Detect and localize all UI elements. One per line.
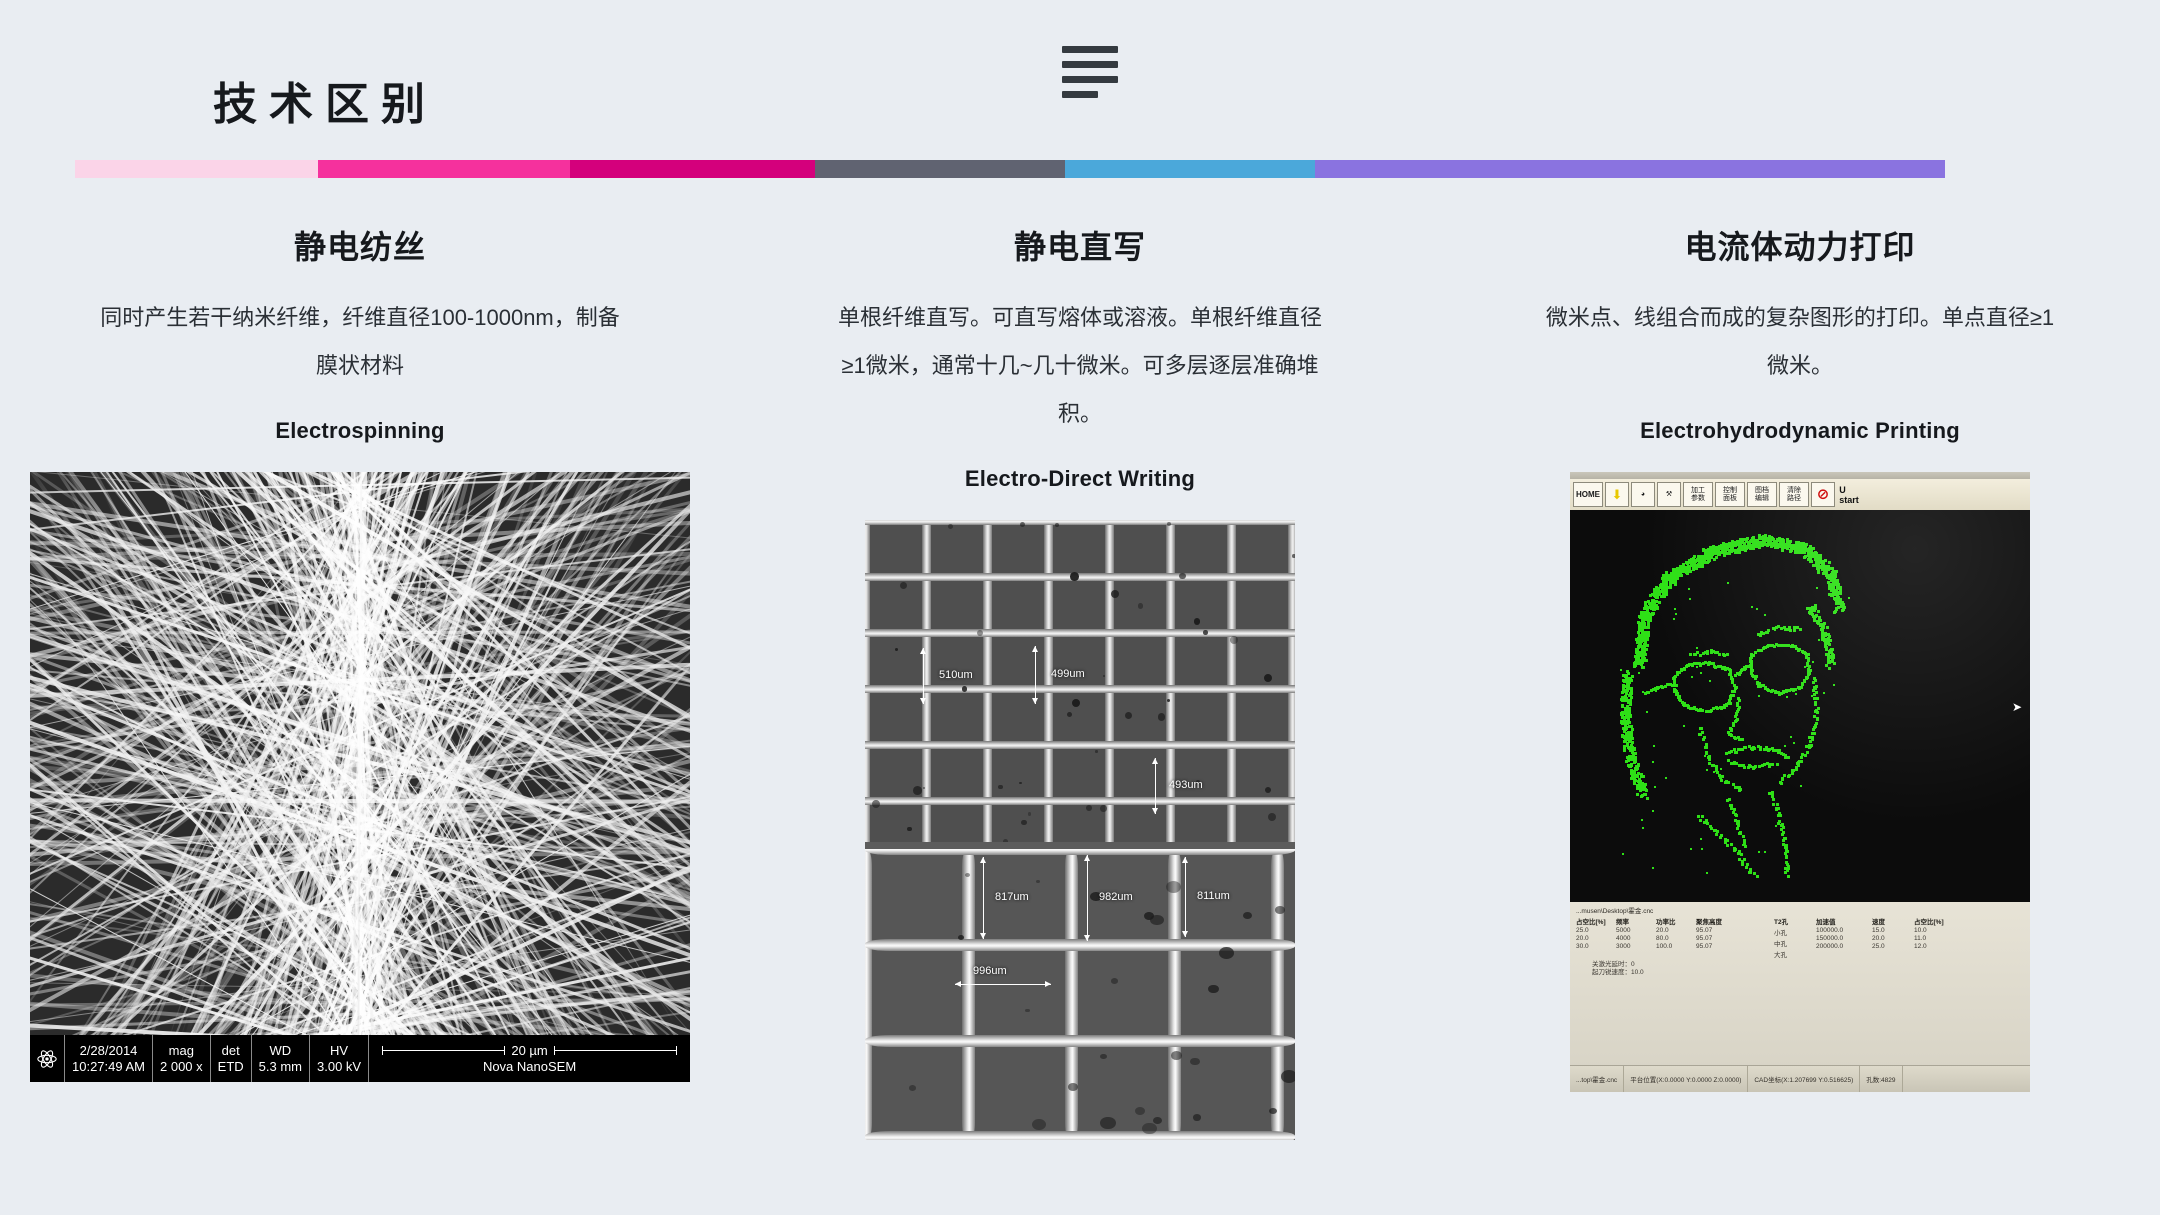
printed-dot <box>1782 542 1785 545</box>
printed-dot <box>1646 607 1649 610</box>
surface-defect <box>1100 1054 1107 1059</box>
surface-defect <box>1003 839 1008 842</box>
surface-defect <box>909 1085 916 1091</box>
printed-dot <box>1763 535 1766 538</box>
printed-dot <box>1716 830 1719 833</box>
surface-defect <box>1171 1051 1182 1060</box>
surface-defect <box>1265 787 1271 793</box>
printed-dot <box>1734 541 1737 544</box>
column-english-label: Electro-Direct Writing <box>965 466 1195 492</box>
printed-dot <box>1625 691 1628 694</box>
measurement-arrow <box>1155 758 1156 814</box>
printed-dot <box>1630 687 1633 690</box>
measurement-label: 811um <box>1197 890 1230 902</box>
printed-dot <box>1642 788 1644 790</box>
printed-dot <box>1795 768 1798 771</box>
sem-grid-image: 510um499um493um 817um982um811um996um <box>865 520 1295 1140</box>
printed-dot <box>1638 672 1640 674</box>
column-title: 静电直写 <box>1014 222 1146 268</box>
printed-dot <box>1719 706 1722 709</box>
printed-dot <box>1727 582 1729 584</box>
surface-defect <box>1125 712 1132 719</box>
color-bar <box>75 160 1945 178</box>
printed-dot <box>1675 613 1677 615</box>
surface-defect <box>1219 947 1234 959</box>
measurement-label: 996um <box>973 965 1007 977</box>
param-right-1-column: 加速值100000.0150000.0200000.0 <box>1816 916 1872 959</box>
printed-dot <box>1699 555 1702 558</box>
printed-dot <box>1751 606 1753 608</box>
printed-dot <box>1643 643 1646 646</box>
param-left-2-cell: 20.0 <box>1656 927 1696 934</box>
toolbar-origin-icon[interactable]: ⬇ <box>1605 482 1629 507</box>
databar-wd-label: WD <box>269 1043 291 1059</box>
printed-dot <box>1764 614 1766 616</box>
printed-dot <box>1726 844 1729 847</box>
measurement-label: 499um <box>1051 668 1085 680</box>
printed-dot <box>1706 551 1709 554</box>
printed-dot <box>1808 744 1810 746</box>
printed-dot <box>1643 793 1646 796</box>
surface-defect <box>1086 805 1092 811</box>
printed-dot <box>1713 771 1715 773</box>
printed-dot <box>1642 666 1645 669</box>
scalebar-right-line <box>554 1050 677 1051</box>
printed-dot <box>1795 693 1797 695</box>
grid-fiber-vertical <box>1227 520 1236 842</box>
printed-dot <box>1692 707 1695 710</box>
printed-dot <box>1835 599 1838 602</box>
toolbar-nozzle-icon[interactable]: ◕ <box>1631 482 1655 507</box>
ehd-printed-portrait <box>1578 514 1908 896</box>
printed-dot <box>1773 750 1775 752</box>
printed-dot <box>1620 669 1622 671</box>
printed-dot <box>1787 756 1790 759</box>
printed-dot <box>1820 628 1823 631</box>
column-ehd-printing: 电流体动力打印 微米点、线组合而成的复杂图形的打印。单点直径≥1微米。 Elec… <box>1440 200 2160 1210</box>
printed-dot <box>1701 815 1704 818</box>
printed-dot <box>1629 694 1632 697</box>
databar-mag: mag 2 000 x <box>153 1035 211 1082</box>
printed-dot <box>1837 606 1840 609</box>
param-right-1-cell: 100000.0 <box>1816 927 1872 934</box>
menu-line-1 <box>1062 46 1118 53</box>
measurement-label: 817um <box>995 891 1029 903</box>
grid-upper-panel: 510um499um493um <box>865 520 1295 842</box>
printed-dot <box>1723 704 1726 707</box>
printed-dot <box>1686 572 1689 575</box>
printed-dot <box>1754 651 1757 654</box>
printed-dot <box>1773 544 1776 547</box>
surface-defect <box>1055 523 1059 527</box>
printed-dot <box>1686 561 1689 564</box>
surface-defect <box>1028 812 1032 816</box>
printed-dot <box>1748 541 1751 544</box>
table-spacer <box>1748 916 1774 959</box>
printed-dot <box>1798 687 1801 690</box>
printed-dot <box>1756 608 1758 610</box>
column-electrospinning: 静电纺丝 同时产生若干纳米纤维，纤维直径100-1000nm，制备膜状材料 El… <box>0 200 720 1210</box>
surface-defect <box>1067 712 1072 717</box>
printed-dot <box>1730 807 1733 810</box>
printed-dot <box>1638 634 1641 637</box>
measurement-label: 982um <box>1099 891 1133 903</box>
param-left-0-cell: 30.0 <box>1576 943 1616 950</box>
surface-defect <box>1068 1083 1078 1091</box>
screen-bezel <box>1570 472 2030 479</box>
printed-dot <box>1655 604 1658 607</box>
printed-dot <box>1632 754 1635 757</box>
measurement-arrow <box>1087 855 1088 941</box>
printed-dot <box>1623 749 1626 752</box>
printed-dot <box>1786 696 1788 698</box>
cnc-canvas: ➤ <box>1570 510 2030 902</box>
printed-dot <box>1654 786 1656 788</box>
printed-dot <box>1653 608 1656 611</box>
scalebar-value: 20 µm <box>511 1043 547 1058</box>
printed-dot <box>1832 591 1835 594</box>
printed-dot <box>1690 558 1693 561</box>
printed-dot <box>1811 695 1813 697</box>
surface-defect <box>1100 1117 1116 1130</box>
surface-defect <box>1100 805 1106 811</box>
printed-dot <box>1646 635 1649 638</box>
printed-dot <box>1835 583 1838 586</box>
printed-dot <box>1621 735 1624 738</box>
printed-dot <box>1654 588 1657 591</box>
param-right-3-cell: 10.0 <box>1914 927 1956 934</box>
printed-dot <box>1706 769 1708 771</box>
printed-dot <box>1767 542 1770 545</box>
printed-dot <box>1727 781 1730 784</box>
printed-dot <box>1689 598 1691 600</box>
databar-det-value: ETD <box>218 1059 244 1075</box>
printed-dot <box>1816 621 1819 624</box>
printed-dot <box>1799 542 1802 545</box>
color-segment-deep-pink <box>570 160 815 178</box>
measurement-arrow <box>1035 646 1036 704</box>
printed-dot <box>1744 746 1747 749</box>
printed-dot <box>1739 788 1742 791</box>
param-right-1-header: 加速值 <box>1816 916 1872 926</box>
cnc-file-path: ...musen\Desktop\霍金.cnc <box>1570 902 2030 916</box>
printed-dot <box>1800 785 1802 787</box>
printed-dot <box>1828 667 1831 670</box>
databar-hv: HV 3.00 kV <box>310 1035 369 1082</box>
printed-dot <box>1635 765 1638 768</box>
printed-dot <box>1784 745 1786 747</box>
printed-dot <box>1661 589 1664 592</box>
surface-defect <box>1268 813 1276 821</box>
printed-dot <box>1706 652 1709 655</box>
printed-dot <box>1726 653 1729 656</box>
printed-dot <box>1690 848 1692 850</box>
page-title: 技术区别 <box>213 68 437 132</box>
printed-dot <box>1635 648 1638 651</box>
printed-dot <box>1777 807 1780 810</box>
param-right-2-column: 速度15.020.025.0 <box>1872 916 1914 959</box>
surface-defect <box>1243 912 1252 919</box>
printed-dot <box>1652 602 1655 605</box>
printed-dot <box>1809 740 1812 743</box>
printed-dot <box>1777 814 1780 817</box>
surface-defect <box>913 786 922 795</box>
printed-dot <box>1672 677 1675 680</box>
printed-dot <box>1675 574 1678 577</box>
column-title: 电流体动力打印 <box>1684 222 1915 268</box>
printed-dot <box>1743 543 1746 546</box>
printed-dot <box>1767 629 1770 632</box>
cnc-parameter-panel: ...musen\Desktop\霍金.cnc 占空比[%]25.020.030… <box>1570 902 2030 1092</box>
databar-instrument: Nova NanoSEM <box>483 1059 576 1074</box>
printed-dot <box>1745 538 1748 541</box>
printed-dot <box>1736 827 1739 830</box>
printed-dot <box>1848 597 1850 599</box>
param-left-1-cell: 5000 <box>1616 927 1656 934</box>
printed-dot <box>1743 766 1746 769</box>
printed-dot <box>1837 596 1840 599</box>
printed-dot <box>1684 568 1687 571</box>
printed-dot <box>1629 765 1632 768</box>
printed-dot <box>1812 661 1814 663</box>
printed-dot <box>1644 788 1647 791</box>
toolbar-stop-icon[interactable]: ⊘ <box>1811 482 1835 507</box>
printed-dot <box>1785 689 1788 692</box>
printed-dot <box>1682 563 1685 566</box>
param-right-1-cell: 150000.0 <box>1816 935 1872 942</box>
printed-dot <box>1708 758 1711 761</box>
printed-dot <box>1621 705 1624 708</box>
param-left-3-header: 聚焦高度 <box>1696 916 1748 926</box>
printed-dot <box>1781 549 1784 552</box>
printed-dot <box>1664 685 1667 688</box>
toolbar-button-4[interactable]: 加工参数 <box>1683 482 1713 507</box>
surface-defect <box>1020 522 1025 527</box>
printed-dot <box>1797 551 1800 554</box>
printed-dot <box>1791 772 1794 775</box>
printed-dot <box>1774 629 1776 631</box>
printed-dot <box>1814 604 1817 607</box>
sem-nanofiber-image: 2/28/2014 10:27:49 AM mag 2 000 x det ET… <box>30 472 690 1082</box>
printed-dot <box>1739 671 1742 674</box>
printed-dot <box>1729 549 1732 552</box>
surface-defect <box>1275 906 1285 914</box>
grid-fiber-vertical <box>962 849 975 1140</box>
param-left-0-cell: 25.0 <box>1576 927 1616 934</box>
toolbar-button-5[interactable]: 控制面板 <box>1715 482 1745 507</box>
cnc-notes: 关激光延时：0起刀锐速度：10.0 <box>1570 959 2030 977</box>
printed-dot <box>1642 691 1644 693</box>
printed-dot <box>1815 552 1818 555</box>
printed-dot <box>1660 685 1663 688</box>
param-left-3-column: 聚焦高度95.0795.0795.07 <box>1696 916 1748 959</box>
printed-dot <box>1750 653 1753 656</box>
printed-dot <box>1742 835 1745 838</box>
surface-defect <box>1194 618 1200 624</box>
column-title: 静电纺丝 <box>294 222 426 268</box>
printed-dot <box>1828 635 1831 638</box>
printed-dot <box>1673 688 1676 691</box>
printed-dot <box>1625 674 1628 677</box>
surface-defect <box>1021 820 1026 825</box>
printed-dot <box>1743 547 1746 550</box>
printed-dot <box>1704 755 1706 757</box>
printed-dot <box>1828 661 1831 664</box>
printed-dot <box>1699 727 1702 730</box>
printed-dot <box>1811 613 1814 616</box>
printed-dot <box>1731 690 1734 693</box>
printed-dot <box>1637 637 1640 640</box>
param-left-2-cell: 100.0 <box>1656 943 1696 950</box>
printed-dot <box>1689 653 1692 656</box>
surface-defect <box>1281 1070 1295 1083</box>
toolbar-ustart-button[interactable]: Ustart <box>1837 482 1861 507</box>
printed-dot <box>1668 574 1671 577</box>
printed-dot <box>1636 793 1638 795</box>
figure-container: 2/28/2014 10:27:49 AM mag 2 000 x det ET… <box>30 472 690 1082</box>
param-left-1-cell: 4000 <box>1616 935 1656 942</box>
printed-dot <box>1705 710 1708 713</box>
printed-dot <box>1701 565 1704 568</box>
param-right-0-cell: 大孔 <box>1774 949 1816 959</box>
printed-dot <box>1833 611 1836 614</box>
printed-dot <box>1653 745 1655 747</box>
color-segment-light-pink <box>75 160 318 178</box>
printed-dot <box>1730 843 1733 846</box>
printed-dot <box>1804 666 1806 668</box>
databar-det: det ETD <box>211 1035 252 1082</box>
printed-dot <box>1705 746 1708 749</box>
param-left-3-cell: 95.07 <box>1696 927 1748 934</box>
printed-dot <box>1623 740 1626 743</box>
printed-dot <box>1721 775 1724 778</box>
printed-dot <box>1824 572 1827 575</box>
surface-defect <box>1150 915 1164 926</box>
printed-dot <box>1741 738 1744 741</box>
printed-dot <box>1632 770 1635 773</box>
surface-defect <box>1032 1119 1046 1130</box>
param-left-0-cell: 20.0 <box>1576 935 1616 942</box>
cnc-screen-photo: HOME⬇◕⚒加工参数控制面板图档编辑清除路径⊘Ustart ➤ ...muse… <box>1570 472 2030 1092</box>
sem-databar: 2/28/2014 10:27:49 AM mag 2 000 x det ET… <box>30 1035 690 1082</box>
printed-dot <box>1828 575 1831 578</box>
printed-dot <box>1833 662 1836 665</box>
printed-dot <box>1631 741 1634 744</box>
printed-dot <box>1710 827 1713 830</box>
printed-dot <box>1814 703 1817 706</box>
status-file: ...top\霍金.cnc <box>1570 1066 1624 1092</box>
printed-dot <box>1758 695 1760 697</box>
toolbar-tool-icon[interactable]: ⚒ <box>1657 482 1681 507</box>
printed-dot <box>1800 756 1803 759</box>
databar-datetime: 2/28/2014 10:27:49 AM <box>65 1035 153 1082</box>
list-menu-icon[interactable] <box>1062 46 1118 98</box>
printed-dot <box>1630 725 1633 728</box>
printed-dot <box>1622 727 1625 730</box>
printed-dot <box>1808 552 1811 555</box>
printed-dot <box>1701 848 1703 850</box>
measurement-label: 493um <box>1169 779 1203 791</box>
printed-dot <box>1822 562 1825 565</box>
printed-dot <box>1830 583 1833 586</box>
printed-dot <box>1735 814 1738 817</box>
grid-fiber-horizontal <box>865 1131 1295 1140</box>
printed-dot <box>1776 763 1779 766</box>
param-left-3-cell: 95.07 <box>1696 935 1748 942</box>
printed-dot <box>1817 568 1820 571</box>
grid-fiber-horizontal <box>865 520 1295 525</box>
grid-lower-panel: 817um982um811um996um <box>865 849 1295 1140</box>
atom-icon <box>30 1035 65 1082</box>
printed-dot <box>1745 866 1748 869</box>
printed-dot <box>1697 815 1700 818</box>
figure-container: 510um499um493um 817um982um811um996um <box>865 520 1295 1140</box>
surface-defect <box>1264 674 1272 682</box>
printed-dot <box>1810 560 1813 563</box>
param-right-2-cell: 15.0 <box>1872 927 1914 934</box>
printed-dot <box>1652 867 1654 869</box>
printed-dot <box>1795 548 1798 551</box>
printed-dot <box>1755 675 1758 678</box>
surface-defect <box>1111 590 1119 598</box>
toolbar-button-6[interactable]: 图档编辑 <box>1747 482 1777 507</box>
printed-dot <box>1643 623 1646 626</box>
param-left-1-cell: 3000 <box>1616 943 1656 950</box>
color-segment-hot-pink <box>318 160 570 178</box>
printed-dot <box>1756 875 1759 878</box>
printed-dot <box>1767 749 1770 752</box>
printed-dot <box>1738 551 1741 554</box>
printed-dot <box>1699 733 1702 736</box>
printed-dot <box>1692 566 1695 569</box>
printed-dot <box>1642 827 1644 829</box>
printed-dot <box>1730 729 1733 732</box>
printed-dot <box>1720 779 1723 782</box>
grid-fiber-vertical <box>1288 520 1295 842</box>
printed-dot <box>1644 692 1647 695</box>
surface-defect <box>1230 636 1239 645</box>
param-left-1-header: 频率 <box>1616 916 1656 926</box>
printed-dot <box>1802 551 1805 554</box>
toolbar-home-button[interactable]: HOME <box>1573 482 1603 507</box>
printed-dot <box>1633 760 1636 763</box>
databar-det-label: det <box>222 1043 240 1059</box>
comparison-columns: 静电纺丝 同时产生若干纳米纤维，纤维直径100-1000nm，制备膜状材料 El… <box>0 200 2160 1210</box>
printed-dot <box>1715 556 1718 559</box>
printed-dot <box>1768 537 1771 540</box>
nanofiber-texture <box>30 472 690 1082</box>
printed-dot <box>1779 544 1782 547</box>
param-right-2-cell: 20.0 <box>1872 935 1914 942</box>
databar-mag-label: mag <box>169 1043 194 1059</box>
printed-dot <box>1725 552 1728 555</box>
surface-defect <box>1138 603 1143 608</box>
printed-dot <box>1647 626 1650 629</box>
printed-dot <box>1639 642 1642 645</box>
grid-fiber-horizontal <box>865 741 1295 749</box>
grid-fiber-vertical <box>865 520 870 842</box>
printed-dot <box>1652 761 1654 763</box>
printed-dot <box>1772 798 1775 801</box>
menu-line-2 <box>1062 61 1118 68</box>
menu-line-4 <box>1062 91 1098 98</box>
printed-dot <box>1688 588 1690 590</box>
printed-dot <box>1631 675 1634 678</box>
figure-container: HOME⬇◕⚒加工参数控制面板图档编辑清除路径⊘Ustart ➤ ...muse… <box>1570 472 2030 1092</box>
printed-dot <box>1742 844 1744 846</box>
toolbar-button-7[interactable]: 清除路径 <box>1779 482 1809 507</box>
cnc-toolbar[interactable]: HOME⬇◕⚒加工参数控制面板图档编辑清除路径⊘Ustart <box>1570 479 2030 510</box>
